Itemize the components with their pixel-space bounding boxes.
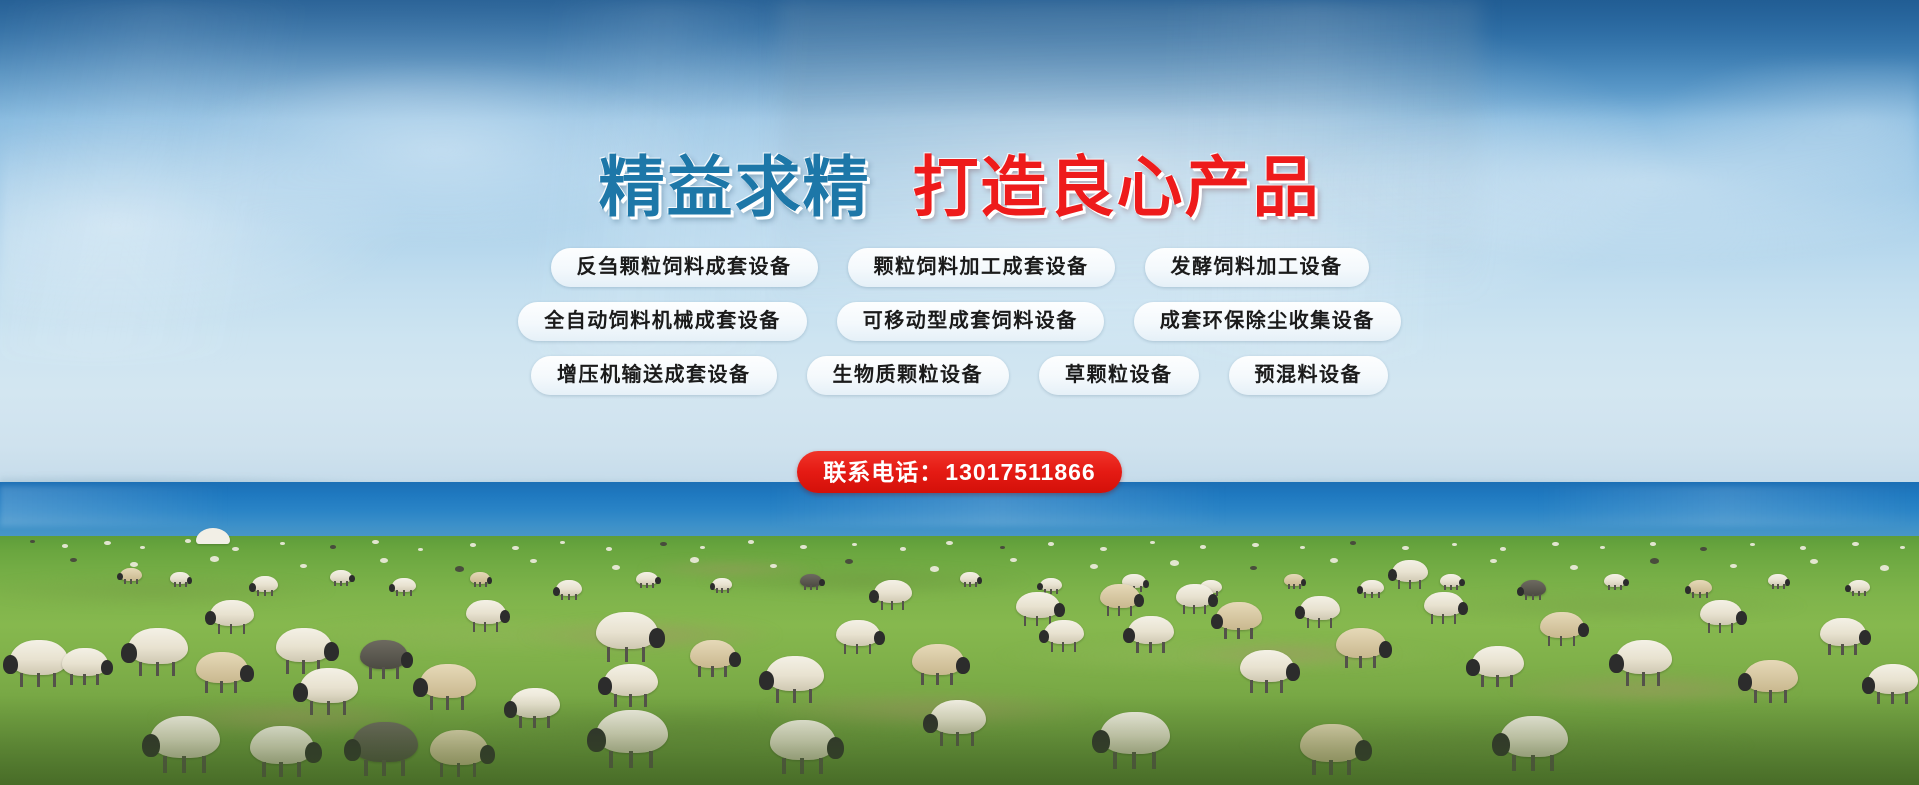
product-category-pill[interactable]: 全自动饲料机械成套设备 — [518, 302, 807, 341]
product-category-row: 反刍颗粒饲料成套设备颗粒饲料加工成套设备发酵饲料加工设备 — [0, 248, 1919, 287]
product-category-list: 反刍颗粒饲料成套设备颗粒饲料加工成套设备发酵饲料加工设备全自动饲料机械成套设备可… — [0, 248, 1919, 410]
contact-number: 13017511866 — [945, 451, 1095, 493]
contact-banner: 联系电话：13017511866 — [0, 451, 1919, 493]
product-category-pill[interactable]: 发酵饲料加工设备 — [1145, 248, 1369, 287]
banner-content-overlay: 精益求精打造良心产品 反刍颗粒饲料成套设备颗粒饲料加工成套设备发酵饲料加工设备全… — [0, 0, 1919, 785]
product-category-pill[interactable]: 成套环保除尘收集设备 — [1134, 302, 1401, 341]
product-category-pill[interactable]: 生物质颗粒设备 — [807, 356, 1010, 395]
product-category-pill[interactable]: 颗粒饲料加工成套设备 — [848, 248, 1115, 287]
promotional-banner: 精益求精打造良心产品 反刍颗粒饲料成套设备颗粒饲料加工成套设备发酵饲料加工设备全… — [0, 0, 1919, 785]
contact-phone-pill[interactable]: 联系电话：13017511866 — [797, 451, 1121, 493]
product-category-row: 全自动饲料机械成套设备可移动型成套饲料设备成套环保除尘收集设备 — [0, 302, 1919, 341]
product-category-pill[interactable]: 增压机输送成套设备 — [531, 356, 777, 395]
headline-blue-text: 精益求精 — [599, 150, 871, 224]
product-category-pill[interactable]: 草颗粒设备 — [1039, 356, 1199, 395]
product-category-pill[interactable]: 可移动型成套饲料设备 — [837, 302, 1104, 341]
product-category-pill[interactable]: 反刍颗粒饲料成套设备 — [551, 248, 818, 287]
product-category-row: 增压机输送成套设备生物质颗粒设备草颗粒设备预混料设备 — [0, 356, 1919, 395]
product-category-pill[interactable]: 预混料设备 — [1229, 356, 1389, 395]
contact-label: 联系电话： — [823, 451, 943, 493]
headline-red-text: 打造良心产品 — [913, 150, 1321, 224]
page-title: 精益求精打造良心产品 — [0, 154, 1919, 220]
